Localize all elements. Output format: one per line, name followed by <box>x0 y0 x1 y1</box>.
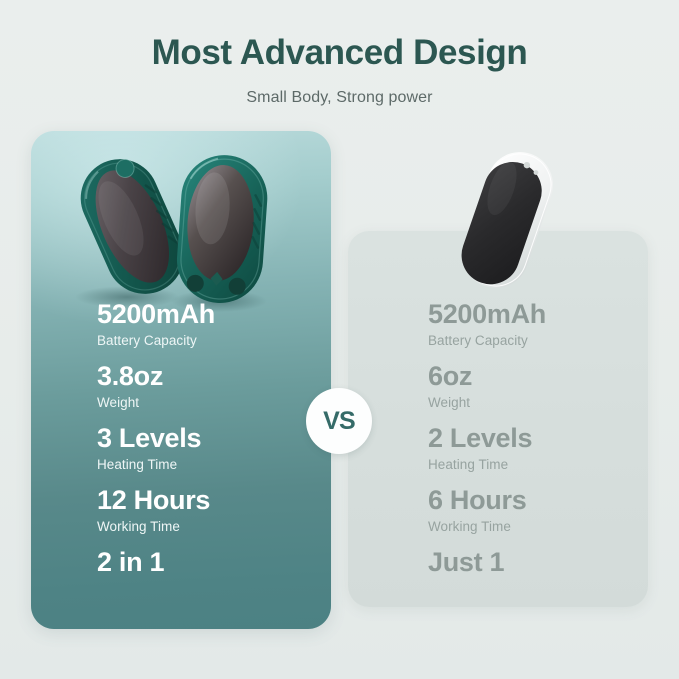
spec-value: 5200mAh <box>97 300 215 329</box>
header: Most Advanced Design Small Body, Strong … <box>0 34 679 107</box>
vs-label: VS <box>323 407 355 436</box>
infographic-page: Most Advanced Design Small Body, Strong … <box>0 0 679 679</box>
spec-row: 3.8oz Weight <box>97 362 163 411</box>
spec-row: 5200mAh Battery Capacity <box>97 300 215 349</box>
spec-label: Battery Capacity <box>428 333 546 349</box>
spec-row: 3 Levels Heating Time <box>97 424 201 473</box>
spec-value: 3.8oz <box>97 362 163 391</box>
spec-row: 6oz Weight <box>428 362 472 411</box>
spec-value: 6oz <box>428 362 472 391</box>
spec-row: 6 Hours Working Time <box>428 486 526 535</box>
spec-row: Just 1 <box>428 548 504 577</box>
spec-row: 2 Levels Heating Time <box>428 424 532 473</box>
spec-row: 2 in 1 <box>97 548 164 577</box>
spec-value: 2 in 1 <box>97 548 164 577</box>
spec-label: Working Time <box>428 519 526 535</box>
spec-label: Heating Time <box>428 457 532 473</box>
spec-label: Weight <box>97 395 163 411</box>
spec-row: 12 Hours Working Time <box>97 486 210 535</box>
spec-label: Heating Time <box>97 457 201 473</box>
spec-label: Battery Capacity <box>97 333 215 349</box>
spec-value: Just 1 <box>428 548 504 577</box>
spec-value: 2 Levels <box>428 424 532 453</box>
page-title: Most Advanced Design <box>0 34 679 73</box>
spec-value: 6 Hours <box>428 486 526 515</box>
spec-value: 5200mAh <box>428 300 546 329</box>
spec-label: Working Time <box>97 519 210 535</box>
spec-row: 5200mAh Battery Capacity <box>428 300 546 349</box>
vs-badge: VS <box>306 388 372 454</box>
spec-value: 3 Levels <box>97 424 201 453</box>
spec-label: Weight <box>428 395 472 411</box>
page-subtitle: Small Body, Strong power <box>0 89 679 107</box>
comparison-panel-left <box>31 131 331 629</box>
spec-value: 12 Hours <box>97 486 210 515</box>
